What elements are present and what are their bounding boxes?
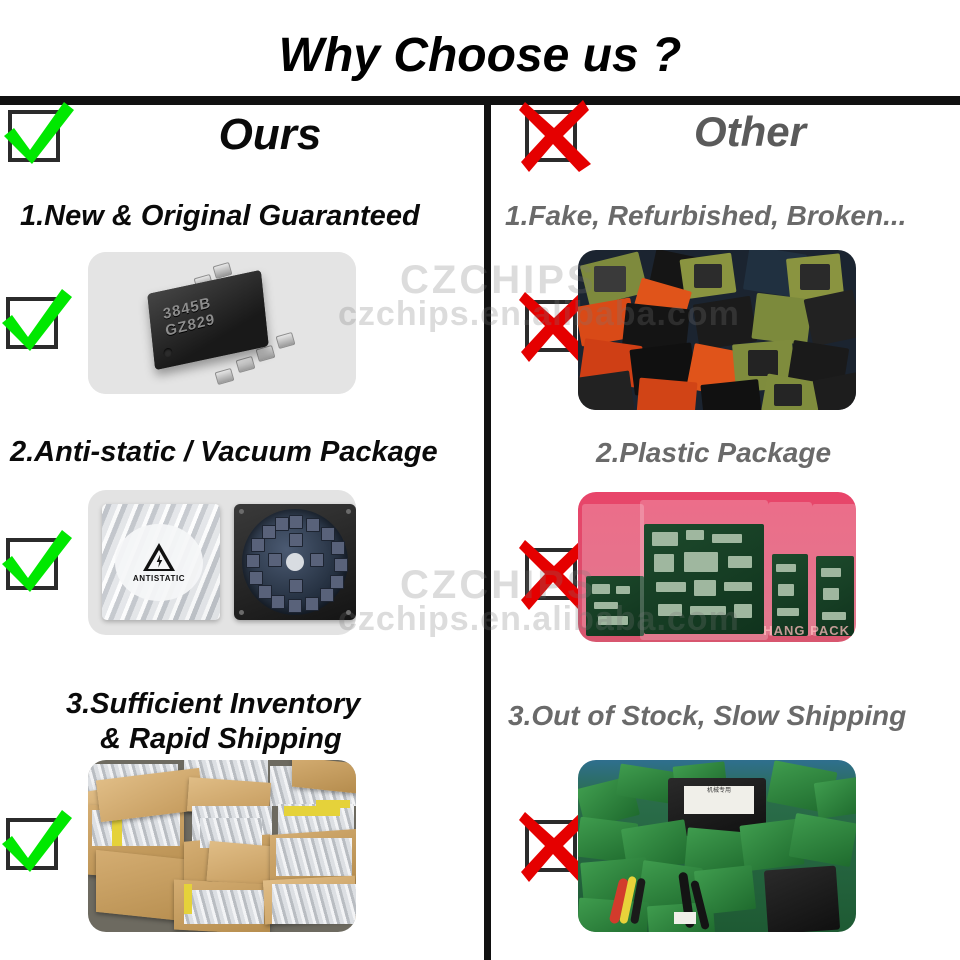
photo-antistatic-package: ANTISTATIC — [88, 490, 356, 635]
column-heading-ours: Ours — [120, 110, 420, 160]
row-3-label-ours-line1: 3.Sufficient Inventory — [66, 688, 360, 721]
check-icon-row-3 — [6, 818, 58, 870]
row-2-label-ours: 2.Anti-static / Vacuum Package — [10, 436, 438, 469]
row-2-label-other: 2.Plastic Package — [596, 437, 831, 469]
cross-icon-row-1 — [525, 300, 577, 352]
page-title: Why Choose us ? — [0, 28, 960, 83]
row-3-label-other: 3.Out of Stock, Slow Shipping — [508, 700, 906, 732]
cross-icon-other-header — [525, 110, 577, 162]
why-choose-us-comparison: Why Choose us ? Ours Other 1.New & Origi… — [0, 0, 960, 960]
cross-icon-row-2 — [525, 548, 577, 600]
pack-watermark: HANG PACK — [763, 623, 850, 638]
check-icon-row-1 — [6, 297, 58, 349]
photo-sop8-chip: 3845B GZ829 — [88, 252, 356, 394]
check-icon — [0, 800, 78, 886]
row-1-label-ours: 1.New & Original Guaranteed — [20, 200, 420, 233]
cross-icon-row-3 — [525, 820, 577, 872]
photo-stocked-cartons — [88, 760, 356, 932]
check-icon-ours-header — [8, 110, 60, 162]
chip-body: 3845B GZ829 — [147, 270, 268, 370]
antistatic-bag: ANTISTATIC — [102, 504, 220, 620]
column-divider — [484, 105, 491, 960]
check-icon — [0, 92, 80, 178]
esd-warning-icon — [143, 543, 175, 571]
header-divider — [0, 96, 960, 105]
column-heading-other: Other — [600, 108, 900, 156]
antistatic-label: ANTISTATIC — [133, 574, 185, 583]
photo-plastic-package: HANG PACK — [578, 492, 856, 642]
row-3-label-ours-line2: & Rapid Shipping — [100, 723, 342, 756]
check-icon — [0, 520, 78, 606]
photo-broken-chips — [578, 250, 856, 410]
tape-reel-case — [234, 504, 356, 620]
check-icon-row-2 — [6, 538, 58, 590]
cross-icon — [511, 92, 597, 178]
check-icon — [0, 279, 78, 365]
photo-pcb-scrap-pile: 机械专用 — [578, 760, 856, 932]
row-1-label-other: 1.Fake, Refurbished, Broken... — [505, 200, 906, 232]
